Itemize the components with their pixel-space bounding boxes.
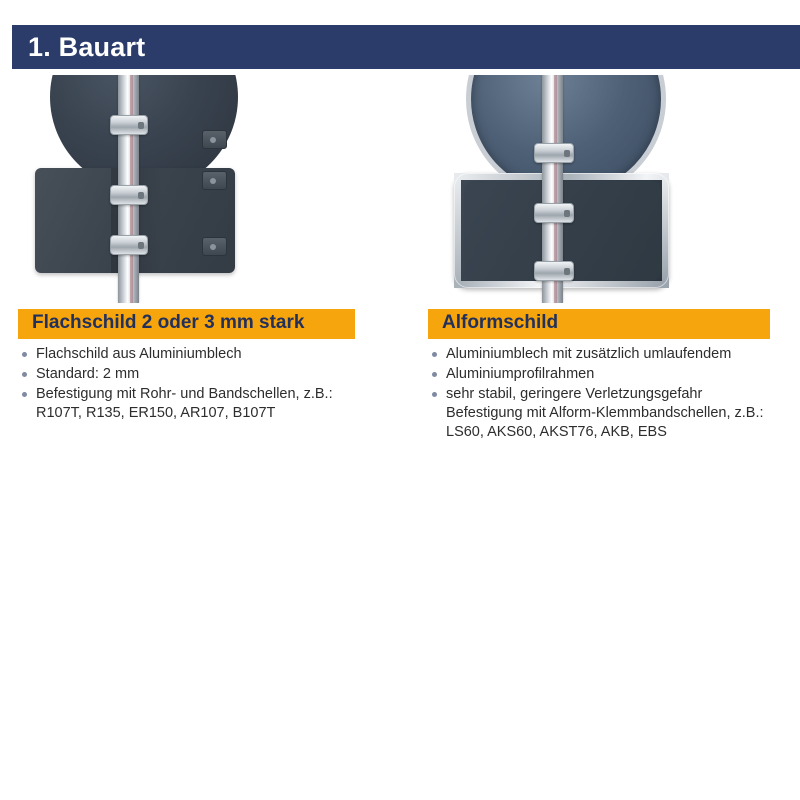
list-item: Aluminiumprofilrahmen	[428, 365, 800, 384]
page-title: 1. Bauart	[12, 34, 145, 61]
alform-clamp-icon	[534, 143, 574, 163]
pipe-clamp-icon	[110, 115, 148, 135]
subsection-title-label: Alformschild	[442, 312, 558, 333]
feature-list-flachschild: Flachschild aus Aluminiumblech Standard:…	[18, 345, 410, 423]
list-item-line: Befestigung mit Rohr- und Bandschellen, …	[36, 385, 410, 404]
alform-clamp-icon	[534, 203, 574, 223]
list-item: Standard: 2 mm	[18, 365, 410, 384]
list-item: Flachschild aus Aluminiumblech	[18, 345, 410, 364]
list-item-line: R107T, R135, ER150, AR107, B107T	[36, 404, 410, 423]
list-item-line: Standard: 2 mm	[36, 365, 410, 384]
list-item-line: LS60, AKS60, AKST76, AKB, EBS	[446, 423, 800, 442]
bracket-tab-icon	[202, 237, 227, 256]
alform-clamp-icon	[534, 261, 574, 281]
product-photo-alformschild	[428, 75, 800, 303]
column-alformschild: Alformschild Aluminiumblech mit zusätzli…	[428, 75, 800, 443]
bracket-tab-icon	[202, 130, 227, 149]
list-item-line: Aluminiumblech mit zusätzlich umlaufende…	[446, 345, 800, 364]
feature-list-alformschild: Aluminiumblech mit zusätzlich umlaufende…	[428, 345, 800, 442]
product-photo-flachschild	[18, 75, 410, 303]
list-item: Aluminiumblech mit zusätzlich umlaufende…	[428, 345, 800, 364]
subsection-title-label: Flachschild 2 oder 3 mm stark	[32, 312, 304, 333]
list-item-line: Befestigung mit Alform-Klemmbandschellen…	[446, 404, 800, 423]
list-item-line: sehr stabil, geringere Verletzungsgefahr	[446, 385, 800, 404]
subsection-title-bar-alformschild: Alformschild	[428, 309, 770, 339]
list-item: sehr stabil, geringere Verletzungsgefahr…	[428, 385, 800, 442]
column-flachschild: Flachschild 2 oder 3 mm stark Flachschil…	[18, 75, 410, 424]
bracket-tab-icon	[202, 171, 227, 190]
list-item-line: Aluminiumprofilrahmen	[446, 365, 800, 384]
section-header-bar: 1. Bauart	[12, 25, 800, 69]
list-item: Befestigung mit Rohr- und Bandschellen, …	[18, 385, 410, 423]
pipe-clamp-icon	[110, 235, 148, 255]
subsection-title-bar-flachschild: Flachschild 2 oder 3 mm stark	[18, 309, 355, 339]
pipe-clamp-icon	[110, 185, 148, 205]
list-item-line: Flachschild aus Aluminiumblech	[36, 345, 410, 364]
